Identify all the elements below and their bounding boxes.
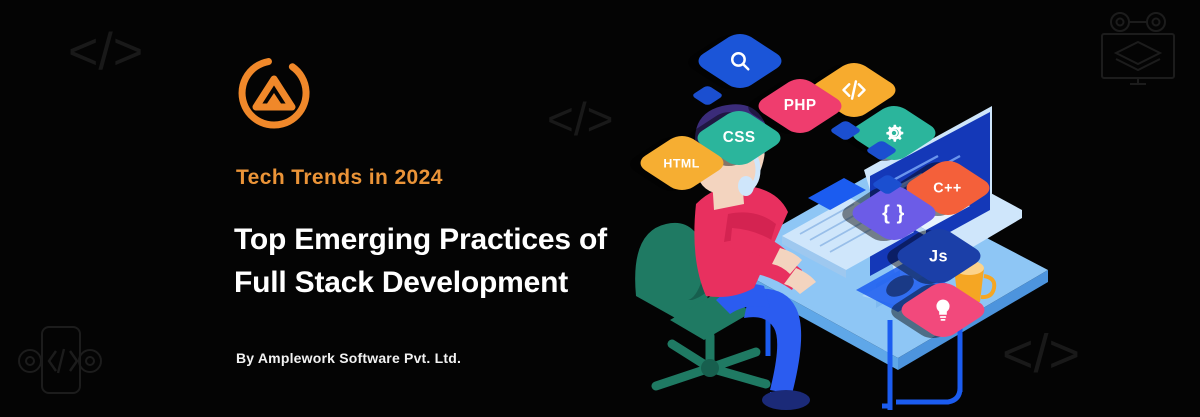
eyebrow-text: Tech Trends in 2024	[236, 166, 443, 190]
badge-braces-label: { }	[883, 203, 906, 223]
badge-html-label: HTML	[664, 157, 700, 169]
mobile-code-gears-icon	[16, 317, 108, 403]
magnifier-icon	[728, 49, 753, 74]
badge-cpp-label: C++	[934, 181, 963, 195]
article-banner: </> </> </> Tech Trends in 2024 Top Em	[0, 0, 1200, 417]
badge-php-label: PHP	[784, 98, 817, 113]
badge-css-label: CSS	[723, 130, 756, 145]
lightbulb-icon	[932, 298, 955, 323]
code-brackets-top-left-icon: </>	[68, 26, 143, 78]
amplework-logo[interactable]	[238, 57, 310, 129]
byline: By Amplework Software Pvt. Ltd.	[236, 350, 461, 366]
code-tag-icon	[841, 77, 868, 104]
badge-js-label: Js	[929, 248, 948, 264]
